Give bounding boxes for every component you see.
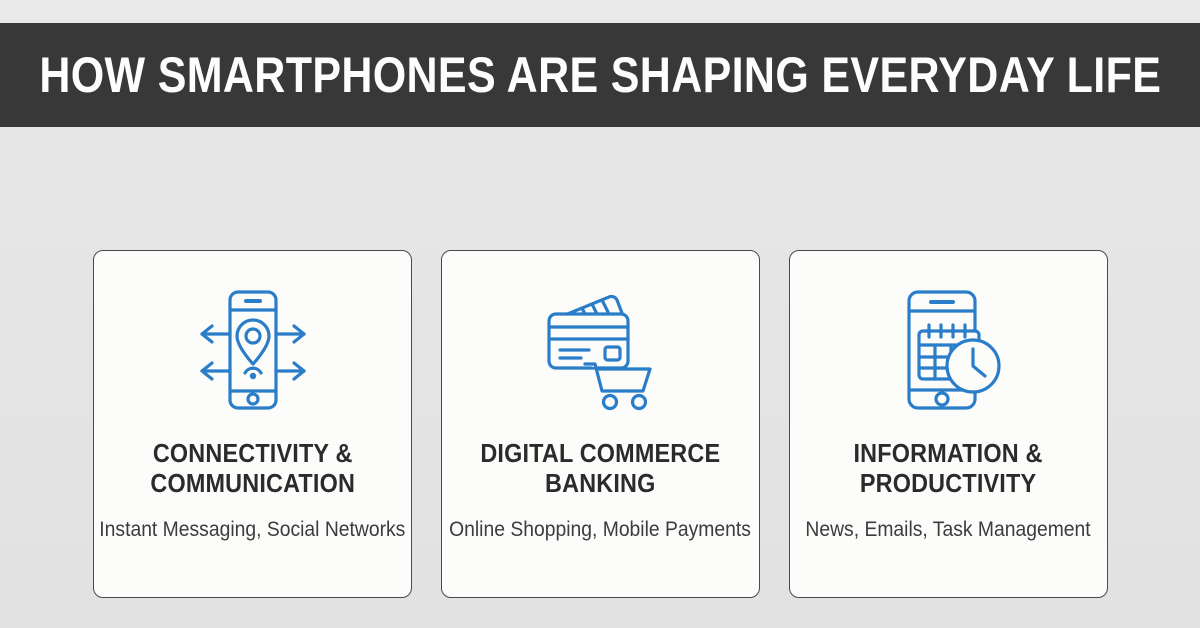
credit-cards-shopping-cart-icon [537, 285, 665, 415]
card-title: DIGITAL COMMERCE BANKING [481, 439, 721, 498]
smartphone-calendar-clock-icon [893, 285, 1005, 415]
card-connectivity-communication[interactable]: CONNECTIVITY & COMMUNICATION Instant Mes… [93, 250, 412, 598]
card-title: CONNECTIVITY & COMMUNICATION [150, 439, 355, 498]
infographic-poster: HOW SMARTPHONES ARE SHAPING EVERYDAY LIF… [0, 0, 1200, 628]
page-title: HOW SMARTPHONES ARE SHAPING EVERYDAY LIF… [39, 50, 1161, 100]
header-bar: HOW SMARTPHONES ARE SHAPING EVERYDAY LIF… [0, 23, 1200, 127]
card-subtitle: News, Emails, Task Management [806, 517, 1091, 542]
card-subtitle: Instant Messaging, Social Networks [99, 517, 405, 542]
card-digital-commerce-banking[interactable]: DIGITAL COMMERCE BANKING Online Shopping… [441, 250, 760, 598]
cards-row: CONNECTIVITY & COMMUNICATION Instant Mes… [93, 250, 1108, 598]
smartphone-location-arrows-icon [194, 285, 312, 415]
card-subtitle: Online Shopping, Mobile Payments [450, 517, 752, 542]
card-title: INFORMATION & PRODUCTIVITY [854, 439, 1043, 498]
card-information-productivity[interactable]: INFORMATION & PRODUCTIVITY News, Emails,… [789, 250, 1108, 598]
